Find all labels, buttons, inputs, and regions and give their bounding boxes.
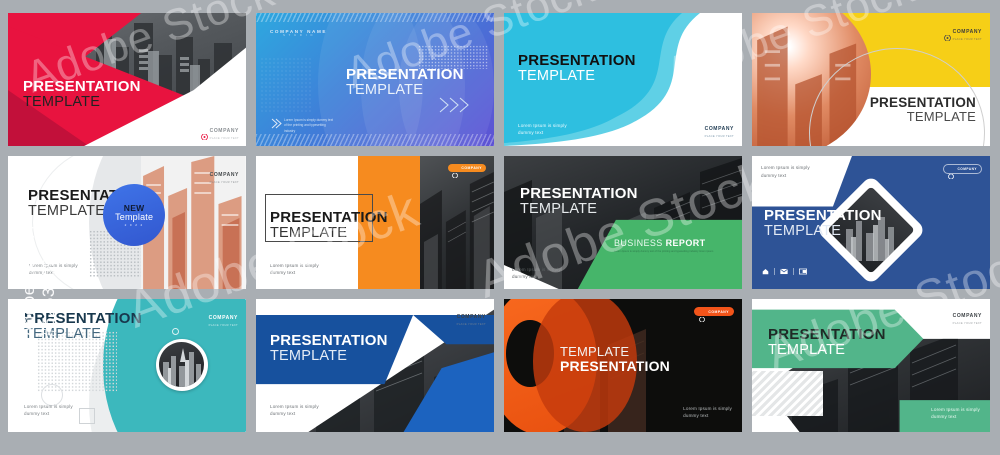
company-text: COMPANY PLACE YOUR TEXT <box>210 163 239 184</box>
title-line-2: TEMPLATE <box>23 95 141 110</box>
outline-square <box>79 408 95 424</box>
slide-title: TEMPLATE PRESENTATION <box>560 345 670 374</box>
company-text: COMPANY PLACE YOUR TEXT <box>457 305 486 326</box>
lorem-text: Lorem Ipsum is simply dummy text <box>761 164 810 179</box>
title-line-1: PRESENTATION <box>520 186 638 202</box>
company-pill[interactable]: COMPANY <box>694 307 734 316</box>
divider <box>774 268 775 275</box>
company-sub: PLACE YOUR TEXT <box>210 137 239 140</box>
company-name: COMPANY <box>457 314 486 320</box>
title-line-1: PRESENTATION <box>346 67 464 83</box>
company-name: COMPANY <box>957 167 977 171</box>
title-line-2: TEMPLATE <box>270 226 388 241</box>
title-line-2: PRESENTATION <box>560 359 670 374</box>
slide-title: PRESENTATION TEMPLATE <box>270 210 388 241</box>
title-line-2: TEMPLATE <box>518 69 636 84</box>
hexagon-icon <box>948 166 955 172</box>
slide-title: PRESENTATION TEMPLATE <box>270 333 388 364</box>
slide-blue-diamond[interactable]: Lorem Ipsum is simply dummy text <box>752 156 990 289</box>
slide-title: PRESENTATION TEMPLATE <box>518 53 636 84</box>
company-name: COMPANY <box>705 126 734 132</box>
company-name: COMPANY <box>209 315 238 321</box>
slide-title: PRESENTATION TEMPLATE <box>24 311 142 342</box>
company-logo[interactable]: COMPANY PLACE YOUR TEXT <box>944 20 982 41</box>
company-sub: PLACE YOUR TEXT <box>457 323 486 326</box>
title-line-1: PRESENTATION <box>23 79 141 95</box>
title-line-2: TEMPLATE <box>270 349 388 364</box>
company-name: COMPANY <box>953 29 982 35</box>
company-logo[interactable]: COMPANY PLACE YOUR TEXT <box>457 305 486 326</box>
lorem-text: Lorem Ipsum is simply dummy text <box>931 406 980 421</box>
title-line-2: TEMPLATE <box>520 202 638 217</box>
slide-new-template-badge[interactable]: NEW Template 2 0 2 2 PRESENTATION TEMPLA… <box>8 156 246 289</box>
divider <box>793 268 794 275</box>
slide-teal-circle-photo[interactable]: PRESENTATION TEMPLATE Lorem Ipsum is sim… <box>8 299 246 432</box>
hatch-pattern <box>752 371 823 416</box>
company-text: COMPANY PLACE YOUR TEXT <box>953 20 982 41</box>
hexagon-icon <box>944 28 951 34</box>
triangle-pattern-left <box>260 57 312 113</box>
slide-title: PRESENTATION TEMPLATE <box>764 208 882 239</box>
badge-line-2: Template <box>115 212 153 222</box>
title-line-1: PRESENTATION <box>870 96 976 110</box>
slide-orange-column[interactable]: PRESENTATION TEMPLATE Lorem Ipsum is sim… <box>256 156 494 289</box>
company-logo[interactable]: COMPANY PLACE YOUR TEXT <box>209 306 238 327</box>
slide-yellow-circle[interactable]: PRESENTATION TEMPLATE COMPANY PLACE YOUR… <box>752 13 990 146</box>
company-logo[interactable]: COMPANY PLACE YOUR TEXT <box>705 117 734 138</box>
company-text: COMPANY PLACE YOUR TEXT <box>210 119 239 140</box>
title-line-1: PRESENTATION <box>518 53 636 69</box>
title-line-1: PRESENTATION <box>764 208 882 224</box>
slide-blue-gradient[interactable]: COMPANY NAME S T U D I O PRESENTATION TE… <box>256 13 494 146</box>
title-line-2: TEMPLATE <box>346 83 464 98</box>
stripe-band-top <box>256 13 494 22</box>
company-text: COMPANY PLACE YOUR TEXT <box>209 306 238 327</box>
business-report-block: BUSINESS REPORT Lorem Ipsum is simply du… <box>614 238 732 254</box>
new-template-badge[interactable]: NEW Template 2 0 2 2 <box>103 184 165 246</box>
lorem-text: Lorem Ipsum is simply dummy text <box>24 403 73 418</box>
company-pill[interactable]: COMPANY <box>448 164 486 172</box>
title-line-2: TEMPLATE <box>768 343 886 358</box>
company-sub: PLACE YOUR TEXT <box>209 324 238 327</box>
slide-title: PRESENTATION TEMPLATE <box>346 67 464 98</box>
title-line-1: PRESENTATION <box>768 327 886 343</box>
slide-title: PRESENTATION TEMPLATE <box>520 186 638 217</box>
company-logo[interactable]: COMPANY PLACE YOUR TEXT <box>210 163 239 184</box>
title-line-1: PRESENTATION <box>270 333 388 349</box>
company-text: COMPANY PLACE YOUR TEXT <box>705 117 734 138</box>
slide-title: PRESENTATION TEMPLATE <box>768 327 886 358</box>
company-header: COMPANY NAME S T U D I O <box>270 29 327 37</box>
company-sub: PLACE YOUR TEXT <box>953 322 982 325</box>
title-line-2: TEMPLATE <box>24 327 142 342</box>
chevron-right-icon <box>270 116 284 134</box>
hexagon-icon <box>201 127 208 133</box>
chevron-double-right-icon <box>438 95 472 120</box>
slide-deck-gallery: PRESENTATION TEMPLATE COMPANY PLACE YOUR… <box>0 0 1000 455</box>
title-line-2: TEMPLATE <box>870 110 976 124</box>
slide-blue-angular[interactable]: PRESENTATION TEMPLATE Lorem Ipsum is sim… <box>256 299 494 432</box>
company-sub: PLACE YOUR TEXT <box>705 135 734 138</box>
report-heading: BUSINESS REPORT <box>614 238 732 248</box>
presentation-icon[interactable] <box>799 262 807 280</box>
lorem-text: Lorem Ipsum is simply dummy text <box>512 266 561 281</box>
lorem-text: Lorem Ipsum is simply dummy text <box>518 122 567 137</box>
company-sub: S T U D I O <box>270 34 327 37</box>
report-sub: Lorem Ipsum is simply dummy text of the … <box>614 250 732 254</box>
slide-red-diagonal[interactable]: PRESENTATION TEMPLATE COMPANY PLACE YOUR… <box>8 13 246 146</box>
company-text: COMPANY PLACE YOUR TEXT <box>953 304 982 325</box>
company-pill[interactable]: COMPANY <box>943 164 982 174</box>
company-name: COMPANY <box>210 172 239 178</box>
lorem-text: Lorem Ipsum is simply dummy text <box>29 262 78 277</box>
company-name: COMPANY <box>953 313 982 319</box>
lorem-text: Lorem Ipsum is simply dummy text <box>683 405 732 420</box>
slide-orange-rings-dark[interactable]: TEMPLATE PRESENTATION Lorem Ipsum is sim… <box>504 299 742 432</box>
title-line-1: PRESENTATION <box>270 210 388 226</box>
company-name: COMPANY <box>461 166 482 170</box>
company-name: COMPANY <box>708 310 729 314</box>
hexagon-icon <box>699 309 706 315</box>
home-icon[interactable] <box>762 262 769 280</box>
mail-icon[interactable] <box>780 262 788 280</box>
title-line-2: TEMPLATE <box>764 224 882 239</box>
lorem-text: Lorem Ipsum is simply dummy text <box>270 262 319 277</box>
slide-green-business-report[interactable]: PRESENTATION TEMPLATE BUSINESS REPORT Lo… <box>504 156 742 289</box>
circular-photo-frame <box>156 339 208 391</box>
title-line-1: PRESENTATION <box>24 311 142 327</box>
company-sub: PLACE YOUR TEXT <box>953 38 982 41</box>
company-logo[interactable]: COMPANY PLACE YOUR TEXT <box>201 119 239 140</box>
title-line-1: TEMPLATE <box>560 345 670 359</box>
icon-row[interactable] <box>762 262 807 280</box>
company-sub: PLACE YOUR TEXT <box>210 181 239 184</box>
report-bold: REPORT <box>666 238 706 248</box>
slide-title: PRESENTATION TEMPLATE <box>870 96 976 124</box>
city-photo-circle <box>159 342 204 387</box>
company-logo[interactable]: COMPANY PLACE YOUR TEXT <box>953 304 982 325</box>
stripe-band-bottom <box>256 134 494 146</box>
slide-cyan-wave[interactable]: PRESENTATION TEMPLATE Lorem Ipsum is sim… <box>504 13 742 146</box>
report-light: BUSINESS <box>614 238 663 248</box>
company-name: COMPANY <box>210 128 239 134</box>
slide-title: PRESENTATION TEMPLATE <box>23 79 141 110</box>
template-grid: PRESENTATION TEMPLATE COMPANY PLACE YOUR… <box>8 13 992 443</box>
lorem-text: Lorem Ipsum is simply dummy text <box>270 403 319 418</box>
lorem-text: Lorem Ipsum is simply dummy text of the … <box>284 118 342 134</box>
badge-line-3: 2 0 2 2 <box>125 223 144 227</box>
hexagon-icon <box>452 165 459 171</box>
slide-green-arrow[interactable]: PRESENTATION TEMPLATE Lorem Ipsum is sim… <box>752 299 990 432</box>
